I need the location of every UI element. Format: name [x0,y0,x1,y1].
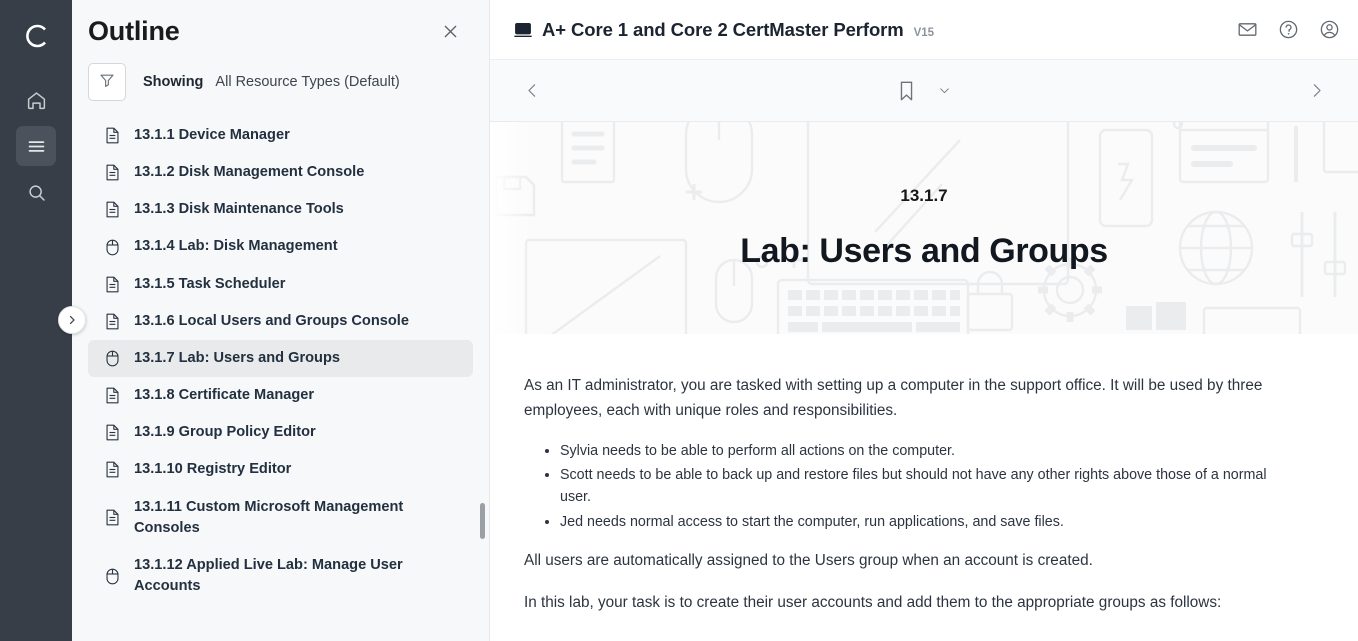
lesson-body: As an IT administrator, you are tasked w… [490,334,1325,616]
outline-item-label: 13.1.6 Local Users and Groups Console [134,311,409,332]
outline-item[interactable]: 13.1.5 Task Scheduler [88,266,473,303]
outline-item-label: 13.1.9 Group Policy Editor [134,422,316,443]
next-page-button[interactable] [1304,79,1328,103]
outline-item-label: 13.1.8 Certificate Manager [134,385,314,406]
outline-list: 13.1.1 Device Manager 13.1.2 Disk Manage… [72,117,489,641]
outline-item[interactable]: 13.1.10 Registry Editor [88,451,473,488]
document-icon [104,461,121,478]
outline-title: Outline [88,16,180,47]
outline-item[interactable]: 13.1.8 Certificate Manager [88,377,473,414]
filter-showing-label: Showing [143,74,203,90]
mouse-icon [104,239,121,256]
note-paragraph: All users are automatically assigned to … [524,549,1301,574]
outline-item-label: 13.1.10 Registry Editor [134,459,291,480]
outline-item-label: 13.1.7 Lab: Users and Groups [134,348,340,369]
hero-text: 13.1.7 Lab: Users and Groups [740,186,1108,271]
outline-item-label: 13.1.5 Task Scheduler [134,274,285,295]
lesson-hero: 13.1.7 Lab: Users and Groups [490,122,1358,334]
outline-item-selected[interactable]: 13.1.7 Lab: Users and Groups [88,340,473,377]
list-item: Jed needs normal access to start the com… [560,512,1301,534]
course-title: A+ Core 1 and Core 2 CertMaster Perform [542,19,904,41]
page-toolbar [490,60,1358,122]
outline-item[interactable]: 13.1.9 Group Policy Editor [88,414,473,451]
rail-item-outline[interactable] [16,126,56,166]
document-icon [104,424,121,441]
document-icon [104,127,121,144]
outline-item-label: 13.1.2 Disk Management Console [134,162,364,183]
lesson-number: 13.1.7 [740,186,1108,206]
outline-item-label: 13.1.3 Disk Maintenance Tools [134,199,344,220]
hero-left-fade [490,122,532,334]
mail-icon[interactable] [1237,19,1258,40]
outline-scrollbar[interactable] [480,117,485,641]
outline-scrollbar-thumb[interactable] [480,503,485,539]
outline-item[interactable]: 13.1.12 Applied Live Lab: Manage User Ac… [88,547,473,605]
course-version-badge: V15 [914,27,934,39]
app-root: Outline Showing All Resource Types (Defa… [0,0,1358,641]
outline-item[interactable]: 13.1.1 Device Manager [88,117,473,154]
document-icon [104,387,121,404]
filter-row: Showing All Resource Types (Default) [72,57,489,117]
document-icon [104,509,121,526]
outline-item[interactable]: 13.1.3 Disk Maintenance Tools [88,191,473,228]
top-bar-actions [1237,19,1340,40]
user-account-icon[interactable] [1319,19,1340,40]
panel-collapse-handle[interactable] [58,306,86,334]
outline-item[interactable]: 13.1.6 Local Users and Groups Console [88,303,473,340]
mouse-icon [104,568,121,585]
filter-funnel-icon [98,71,116,94]
outline-header: Outline [72,0,489,57]
outline-item-label: 13.1.11 Custom Microsoft Management Cons… [134,497,463,539]
filter-value: All Resource Types (Default) [215,74,399,90]
list-item: Sylvia needs to be able to perform all a… [560,441,1301,463]
outline-item-label: 13.1.12 Applied Live Lab: Manage User Ac… [134,555,463,597]
app-logo[interactable] [14,14,58,58]
list-item: Scott needs to be able to back up and re… [560,465,1301,508]
bookmark-controls [897,80,951,102]
help-circle-icon[interactable] [1278,19,1299,40]
document-icon [104,276,121,293]
lesson-content: 13.1.7 Lab: Users and Groups As an IT ad… [490,122,1358,641]
document-icon [104,313,121,330]
top-bar: A+ Core 1 and Core 2 CertMaster Perform … [490,0,1358,60]
previous-page-button[interactable] [520,79,544,103]
chevron-down-icon[interactable] [938,84,951,97]
close-icon[interactable] [437,19,463,45]
document-icon [104,201,121,218]
outline-item-label: 13.1.1 Device Manager [134,125,290,146]
filter-button[interactable] [88,63,126,101]
course-identity: A+ Core 1 and Core 2 CertMaster Perform … [514,18,934,41]
course-book-icon [514,21,532,44]
outline-item[interactable]: 13.1.4 Lab: Disk Management [88,228,473,265]
rail-item-home[interactable] [16,80,56,120]
bookmark-icon[interactable] [897,80,916,102]
task-paragraph: In this lab, your task is to create thei… [524,591,1301,616]
outline-item-label: 13.1.4 Lab: Disk Management [134,236,338,257]
outline-item[interactable]: 13.1.11 Custom Microsoft Management Cons… [88,489,473,547]
document-icon [104,164,121,181]
main-content: A+ Core 1 and Core 2 CertMaster Perform … [490,0,1358,641]
lesson-heading: Lab: Users and Groups [740,232,1108,271]
requirements-list: Sylvia needs to be able to perform all a… [524,441,1301,534]
outline-panel: Outline Showing All Resource Types (Defa… [72,0,490,641]
intro-paragraph: As an IT administrator, you are tasked w… [524,374,1301,424]
mouse-icon [104,350,121,367]
outline-item[interactable]: 13.1.2 Disk Management Console [88,154,473,191]
rail-item-search[interactable] [16,172,56,212]
